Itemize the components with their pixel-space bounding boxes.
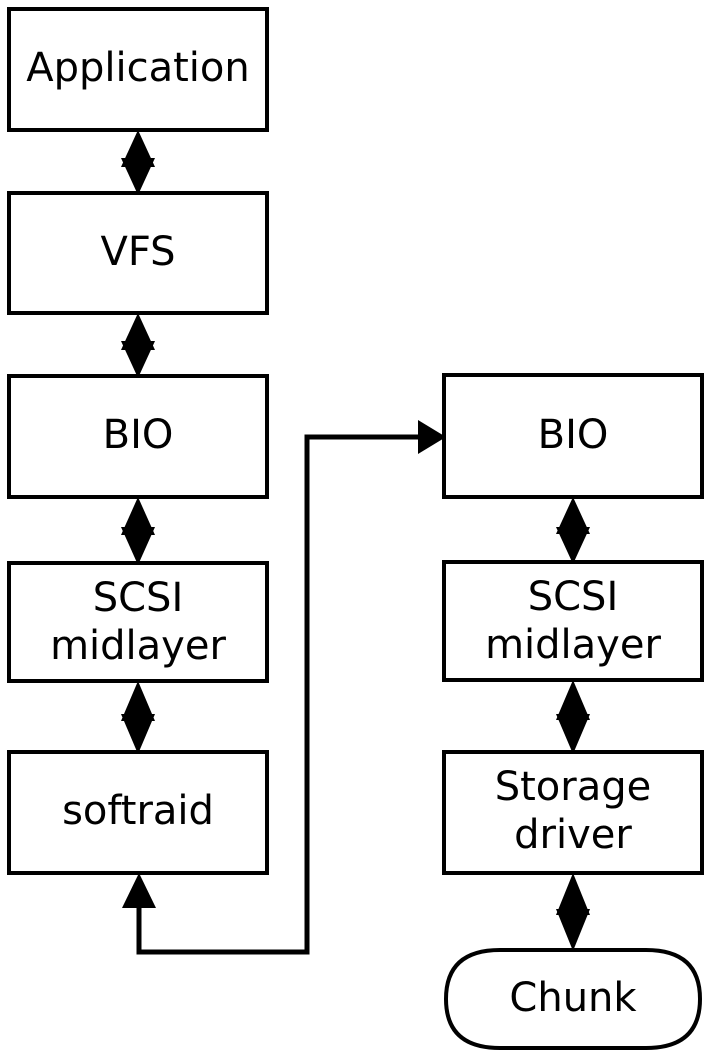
scsi-midlayer-left-label-line2: midlayer (50, 623, 226, 669)
bio-left-label: BIO (103, 412, 174, 458)
node-application[interactable]: Application (9, 9, 267, 130)
application-label: Application (26, 45, 250, 91)
arrowhead-down (121, 527, 155, 565)
node-storage-driver[interactable]: Storage driver (444, 752, 702, 873)
connector-bio-right-scsi-right (556, 497, 590, 564)
connector-bio-left-scsi-left (121, 497, 155, 565)
arrowhead-down (556, 909, 590, 951)
storage-driver-label-line1: Storage (495, 764, 652, 810)
node-bio-right[interactable]: BIO (444, 375, 702, 497)
vfs-label: VFS (100, 229, 175, 275)
arrowhead-down (121, 158, 155, 195)
storage-driver-label-line2: driver (514, 812, 632, 858)
node-softraid[interactable]: softraid (9, 752, 267, 873)
node-chunk[interactable]: Chunk (446, 950, 700, 1048)
arrowhead-down (556, 714, 590, 754)
connector-application-vfs (121, 130, 155, 195)
node-vfs[interactable]: VFS (9, 193, 267, 313)
diagram-canvas: Application VFS BIO SCSI midlayer softra… (0, 0, 710, 1062)
arrowhead-up-into-softraid (122, 873, 156, 908)
arrowhead-down (121, 714, 155, 754)
storage-stack-diagram: Application VFS BIO SCSI midlayer softra… (0, 0, 710, 1062)
scsi-midlayer-right-label-line2: midlayer (485, 622, 661, 668)
connector-storage-driver-chunk (556, 873, 590, 951)
arrowhead-up (556, 873, 590, 915)
scsi-midlayer-left-label-line1: SCSI (93, 575, 184, 621)
node-scsi-midlayer-right[interactable]: SCSI midlayer (444, 562, 702, 680)
bio-right-label: BIO (538, 412, 609, 458)
chunk-label: Chunk (509, 975, 637, 1021)
connector-scsi-right-storage-driver (556, 680, 590, 754)
scsi-midlayer-right-label-line1: SCSI (528, 574, 619, 620)
softraid-label: softraid (62, 788, 214, 834)
connector-vfs-bio-left (121, 313, 155, 378)
node-bio-left[interactable]: BIO (9, 376, 267, 497)
connector-scsi-left-softraid (121, 681, 155, 754)
arrowhead-down (556, 527, 590, 564)
node-scsi-midlayer-left[interactable]: SCSI midlayer (9, 563, 267, 681)
arrowhead-down (121, 341, 155, 378)
arrowhead-right-into-bio (418, 420, 446, 454)
